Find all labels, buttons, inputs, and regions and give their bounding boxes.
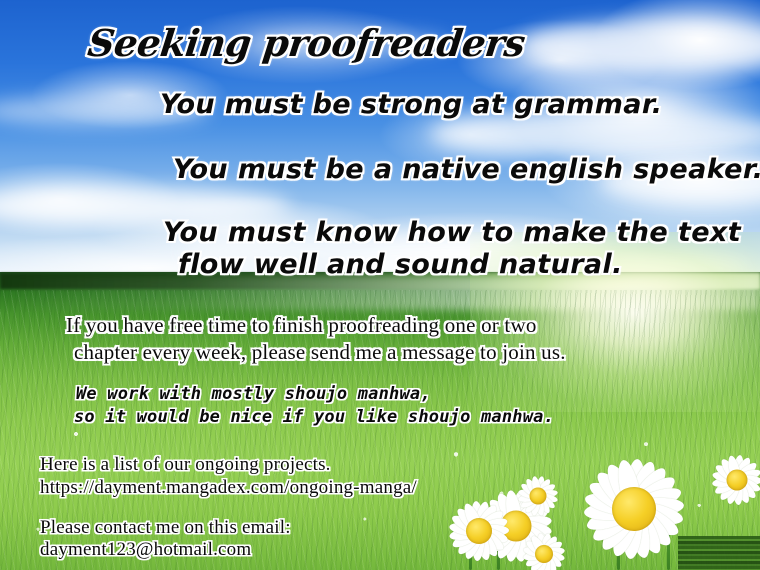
page-title: Seeking proofreaders — [86, 24, 527, 64]
requirement-text-flow-line2: flow well and sound natural. — [178, 250, 623, 279]
projects-url[interactable]: https://dayment.mangadex.com/ongoing-man… — [40, 478, 417, 499]
proofreader-recruitment-poster: Seeking proofreaders You must be strong … — [0, 0, 760, 570]
availability-line2: chapter every week, please send me a mes… — [74, 341, 566, 364]
requirement-native-speaker: You must be a native english speaker. — [173, 155, 760, 184]
poster-text-layer: Seeking proofreaders You must be strong … — [0, 0, 760, 570]
contact-label: Please contact me on this email: — [40, 518, 291, 539]
projects-label: Here is a list of our ongoing projects. — [40, 455, 331, 476]
requirement-grammar: You must be strong at grammar. — [160, 90, 662, 119]
requirement-text-flow-line1: You must know how to make the text — [163, 218, 741, 247]
contact-email[interactable]: dayment123@hotmail.com — [40, 540, 251, 561]
genre-note-line2: so it would be nice if you like shoujo m… — [74, 408, 554, 426]
availability-line1: If you have free time to finish proofrea… — [66, 314, 537, 337]
genre-note-line1: We work with mostly shoujo manhwa, — [76, 385, 431, 403]
